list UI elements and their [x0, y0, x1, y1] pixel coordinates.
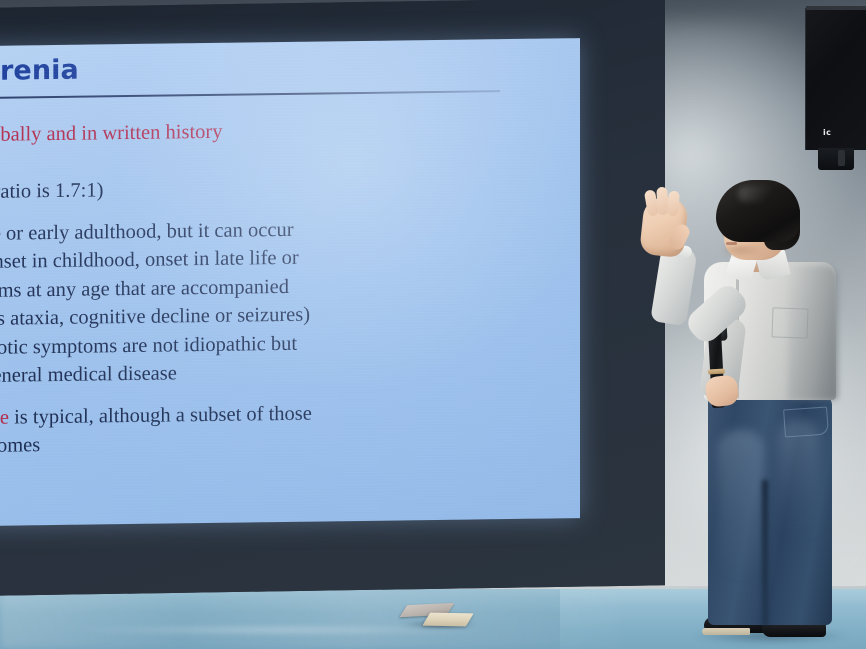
laptop-keyboard-base [422, 613, 473, 627]
speaker-brand-logo: ic [823, 128, 831, 137]
presenter-hair-highlight [738, 186, 778, 202]
presenter-leg-seam [762, 480, 768, 626]
floor-reflection [0, 591, 620, 649]
slide-title-divider [0, 90, 500, 100]
slide-title: chizophrenia [0, 48, 562, 88]
speaker-top-edge [806, 6, 866, 10]
presenter-shirt-pocket [771, 307, 808, 338]
speaker-mount-arm [838, 150, 845, 166]
slide-line-10-accent: emitting course [0, 406, 9, 430]
presenter-chin-shading [724, 246, 764, 258]
microphone-ring [708, 369, 725, 375]
wall-speaker: ic [805, 8, 866, 150]
presenter-shoe-left-sole [702, 628, 750, 635]
presenter-jeans-pocket [783, 406, 829, 437]
slide-content: chizophrenia or cultures globally and in… [0, 48, 562, 461]
presenter [612, 180, 862, 649]
presenter-jeans-fade-left [718, 430, 764, 580]
presenter-finger-ring [667, 191, 680, 217]
presenter-jeans-fade-right [778, 420, 820, 540]
speaker-mount-bracket [818, 148, 854, 170]
presenter-hand-holding-microphone [705, 374, 740, 407]
slide-line-10-rest: is typical, although a subset of those [9, 402, 312, 428]
laptop-on-floor [404, 604, 472, 630]
slide-body: or cultures globally and in written hist… [0, 113, 562, 461]
presenter-mouth [726, 242, 737, 245]
projected-slide: chizophrenia or cultures globally and in… [0, 38, 580, 526]
lecture-scene: chizophrenia or cultures globally and in… [0, 0, 866, 649]
